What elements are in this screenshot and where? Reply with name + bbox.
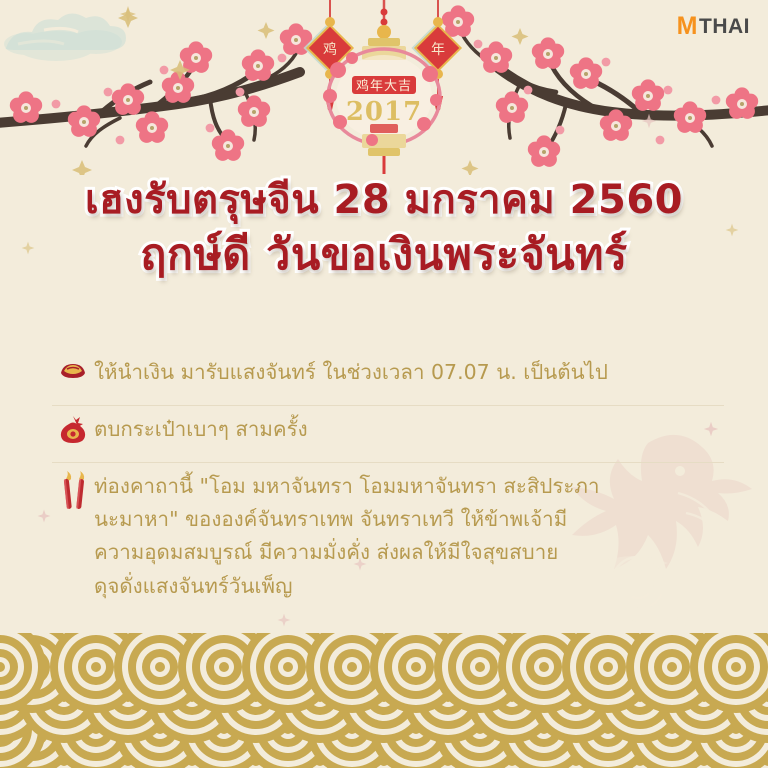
list-item-line: นะมาหา" ขององค์จันทราเทพ จันทราเทวี ให้ข… <box>94 503 599 536</box>
mthai-logo[interactable]: M THAI <box>677 14 750 39</box>
incense-sticks-icon <box>52 469 94 509</box>
top-decoration-band: 鸡 年 <box>0 0 768 175</box>
list-item-line: ความอุดมสมบูรณ์ มีความมั่งคั่ง ส่งผลให้ม… <box>94 536 599 569</box>
lantern-chinese-text: 鸡年大吉 <box>356 78 412 94</box>
title-line-2: ฤกษ์ดี วันขอเงินพระจันทร์ <box>0 229 768 281</box>
ornament-right-char: 年 <box>431 42 445 58</box>
infographic-canvas: 鸡 年 <box>0 0 768 768</box>
list-item-text: ให้นำเงิน มารับแสงจันทร์ ในช่วงเวลา 07.0… <box>94 355 608 389</box>
list-item-text: ตบกระเป๋าเบาๆ สามครั้ง <box>94 412 308 446</box>
title-line-1: เฮงรับตรุษจีน 28 มกราคม 2560 <box>0 176 768 225</box>
ornament-left-char: 鸡 <box>323 41 337 58</box>
sparkle-icon <box>36 508 52 524</box>
list-item-text: ท่องคาถานี้ "โอม มหาจันทรา โอมมหาจันทรา … <box>94 469 599 603</box>
page-title: เฮงรับตรุษจีน 28 มกราคม 2560 ฤกษ์ดี วันข… <box>0 176 768 281</box>
lantern-illustration: 鸡年大吉 2017 <box>323 0 442 174</box>
blossom-branch-illustration: 鸡 年 <box>0 0 768 175</box>
ritual-steps-list: ให้นำเงิน มารับแสงจันทร์ ในช่วงเวลา 07.0… <box>52 349 724 613</box>
gold-ingot-icon <box>52 355 94 395</box>
list-item: ตบกระเป๋าเบาๆ สามครั้ง <box>52 405 724 462</box>
lantern-year-text: 2017 <box>346 97 422 127</box>
list-item-line: ให้นำเงิน มารับแสงจันทร์ ในช่วงเวลา 07.0… <box>94 356 608 389</box>
logo-word-thai: THAI <box>699 16 750 37</box>
list-item-line: ท่องคาถานี้ "โอม มหาจันทรา โอมมหาจันทรา … <box>94 470 599 503</box>
sparkle-icon <box>276 612 292 628</box>
list-item-line: ตบกระเป๋าเบาๆ สามครั้ง <box>94 413 308 446</box>
list-item: ท่องคาถานี้ "โอม มหาจันทรา โอมมหาจันทรา … <box>52 462 724 613</box>
logo-mark-m: M <box>677 14 698 39</box>
list-item: ให้นำเงิน มารับแสงจันทร์ ในช่วงเวลา 07.0… <box>52 349 724 405</box>
seigaiha-wave-pattern <box>0 633 768 768</box>
list-item-line: ดุจดั่งแสงจันทร์วันเพ็ญ <box>94 570 599 603</box>
money-bag-icon <box>52 412 94 452</box>
